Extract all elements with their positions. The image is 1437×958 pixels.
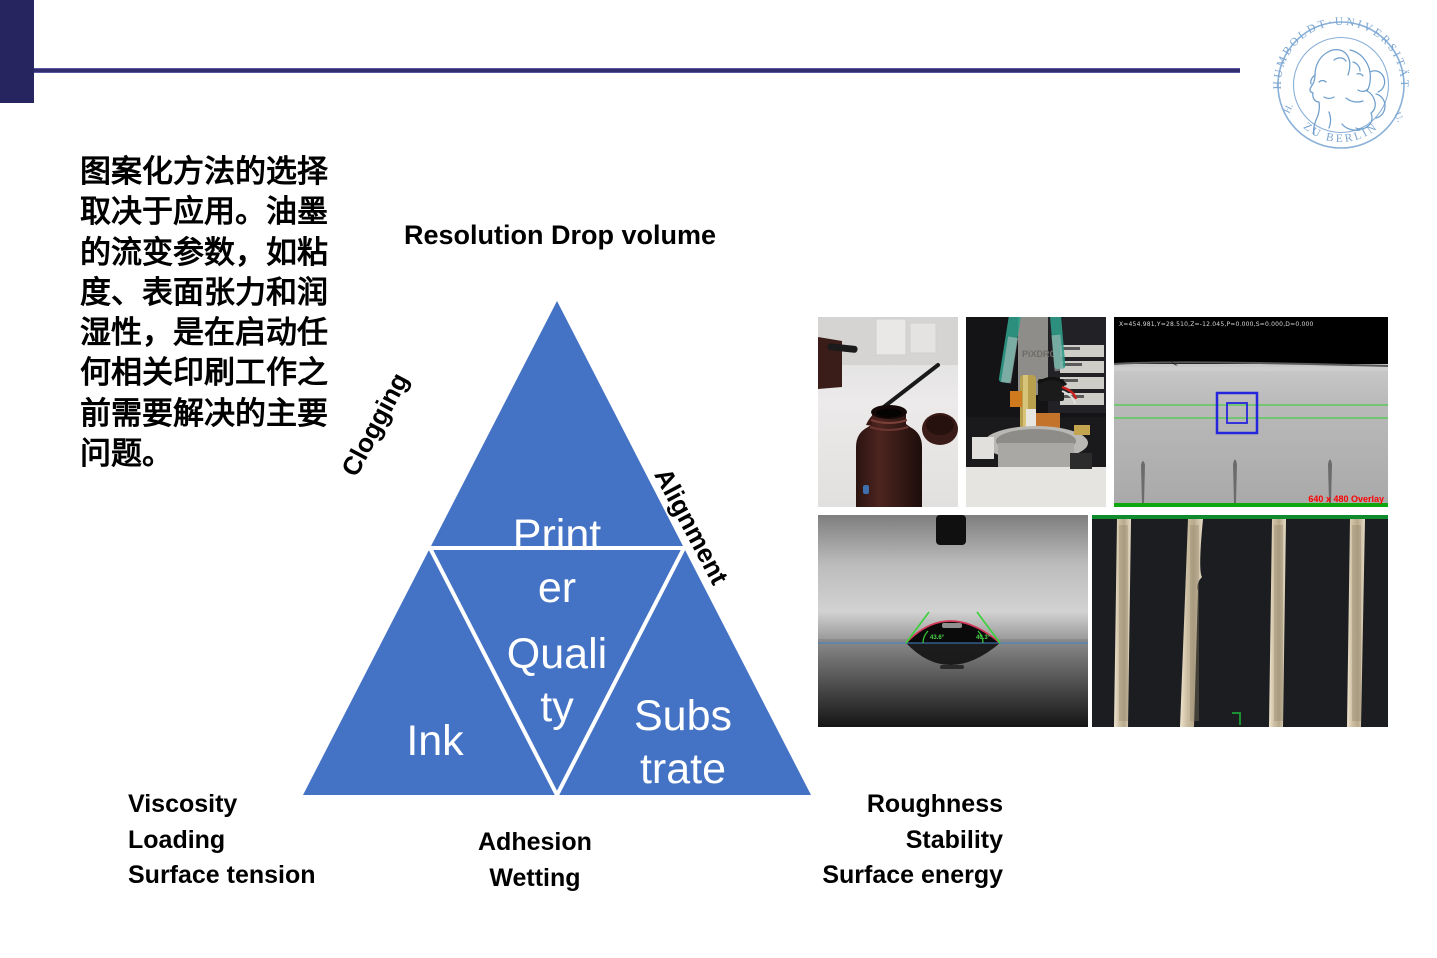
svg-text:U.: U. [1391, 110, 1405, 124]
photo-printed-lines [1092, 515, 1388, 727]
printed-lines-image [1092, 515, 1388, 727]
segment-printer-line1: Print [513, 511, 601, 559]
svg-text:HUMBOLDT·UNIVERSITÄT: HUMBOLDT·UNIVERSITÄT [1272, 16, 1412, 90]
segment-printer-line2: er [538, 564, 576, 612]
segment-quality-line2: ty [540, 683, 574, 731]
printhead-image: PiXDRO [966, 317, 1106, 507]
university-logo: HUMBOLDT·UNIVERSITÄT ZU BERLIN H. U. [1258, 2, 1424, 168]
camera-overlay-tag: 640 x 480 Overlay [1308, 494, 1384, 504]
photo-printer-head: PiXDRO [966, 317, 1106, 507]
segment-quality-line1: Quali [507, 630, 607, 678]
segment-substrate-line1: Subs [634, 692, 732, 740]
triangle-graphic: Print er Quali ty Ink Subs trate [290, 293, 830, 795]
corner-label-substrate-properties: Roughness Stability Surface energy [822, 787, 1003, 894]
corner-label-interface-properties: Adhesion Wetting [478, 825, 592, 896]
triangle-segment-ink: Ink [406, 717, 464, 765]
photo-camera-view: X=454.981,Y=28.510,Z=-12.045,P=0.000,S=0… [1114, 317, 1388, 507]
segment-ink-line1: Ink [406, 717, 464, 765]
camera-osd-text: X=454.981,Y=28.510,Z=-12.045,P=0.000,S=0… [1119, 321, 1314, 328]
header-rule [34, 68, 1240, 73]
contact-angle-value-right: 40.3° [976, 635, 990, 641]
triangle-top-label: Resolution Drop volume [290, 215, 830, 257]
ink-bottle-image [818, 317, 958, 507]
contact-angle-value-left: 43.6° [930, 635, 944, 641]
segment-substrate-line2: trate [640, 745, 726, 793]
photo-ink-bottle [818, 317, 958, 507]
corner-label-ink-properties: Viscosity Loading Surface tension [128, 787, 316, 894]
university-seal-icon: HUMBOLDT·UNIVERSITÄT ZU BERLIN H. U. [1258, 2, 1424, 168]
header-accent-block [0, 0, 34, 103]
contact-angle-image [818, 515, 1088, 727]
printing-quality-triangle-diagram: Resolution Drop volume Print er Quali ty… [290, 215, 830, 815]
alignment-camera-image [1114, 317, 1388, 507]
svg-text:PiXDRO: PiXDRO [1022, 349, 1057, 359]
photo-contact-angle: 43.6° 40.3° [818, 515, 1088, 727]
